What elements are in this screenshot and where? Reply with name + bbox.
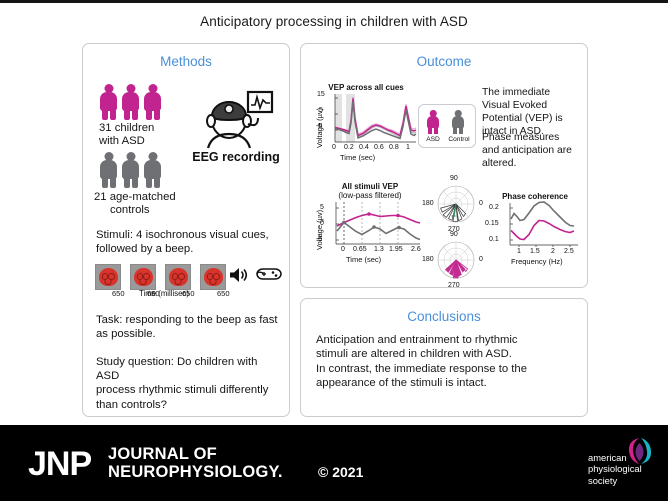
polar-control-label-90: 90 bbox=[450, 175, 458, 182]
all-stimuli-x-tick: 0.65 bbox=[353, 246, 367, 253]
conclusions-line-3: In contrast, the immediate response to t… bbox=[316, 362, 574, 376]
society-line-3: society bbox=[588, 475, 642, 486]
conclusions-line-2: stimuli are altered in children with ASD… bbox=[316, 347, 574, 361]
stimuli-line-2: followed by a beep. bbox=[96, 242, 278, 256]
stimuli-description: Stimuli: 4 isochronous visual cues, foll… bbox=[96, 228, 278, 256]
top-border bbox=[0, 0, 668, 3]
eeg-recording-label: EEG recording bbox=[186, 150, 286, 164]
vep-y-tick: -5 bbox=[316, 123, 322, 130]
person-figure-icon bbox=[100, 84, 117, 120]
question-line-1: Study question: Do children with ASD bbox=[96, 355, 278, 383]
legend-control-label: Control bbox=[446, 136, 472, 143]
control-count-label-2: controls bbox=[110, 203, 150, 217]
person-figure-icon bbox=[100, 152, 117, 188]
eeg-headset-icon bbox=[196, 88, 274, 150]
polar-asd-label-270: 270 bbox=[448, 282, 460, 289]
vep-x-axis-label: Time (sec) bbox=[340, 153, 375, 162]
coherence-y-tick: 0.2 bbox=[489, 204, 499, 211]
person-figure-icon bbox=[144, 152, 161, 188]
coherence-x-tick: 1.5 bbox=[530, 248, 540, 255]
phase-polar-control-chart bbox=[434, 182, 478, 226]
vep-y-tick: 5 bbox=[319, 107, 323, 114]
timeline-axis-label: Time (millisec) bbox=[104, 289, 224, 298]
all-stimuli-x-axis-label: Time (sec) bbox=[346, 255, 381, 264]
task-line-1: Task: responding to the beep as fast bbox=[96, 313, 278, 327]
vep-x-tick: 0.2 bbox=[344, 144, 354, 151]
vep-x-tick: 0.4 bbox=[359, 144, 369, 151]
polar-control-label-180: 180 bbox=[422, 200, 434, 207]
coherence-y-tick: 0.1 bbox=[489, 236, 499, 243]
all-stimuli-chart-subtitle: (low-pass filtered) bbox=[316, 191, 424, 200]
red-face-stimulus-icon bbox=[200, 264, 226, 290]
speaker-icon bbox=[228, 265, 248, 285]
all-stimuli-x-tick: 0 bbox=[341, 246, 345, 253]
all-stimuli-x-tick: 1.95 bbox=[389, 246, 403, 253]
journal-name-line-2: NEUROPHYSIOLOGY. bbox=[108, 464, 283, 482]
legend-control-icon bbox=[452, 110, 464, 134]
group-legend: ASD Control bbox=[418, 104, 476, 148]
coherence-x-tick: 2.5 bbox=[564, 248, 574, 255]
task-description: Task: responding to the beep as fast as … bbox=[96, 313, 278, 341]
all-stimuli-vep-chart bbox=[322, 200, 422, 256]
coherence-x-axis-label: Frequency (Hz) bbox=[511, 257, 563, 266]
vep-x-tick: 1 bbox=[406, 144, 410, 151]
coherence-x-tick: 1 bbox=[517, 248, 521, 255]
question-line-3: than controls? bbox=[96, 398, 278, 412]
control-count-label: 21 age-matched bbox=[94, 190, 176, 204]
phase-coherence-title: Phase coherence bbox=[490, 192, 580, 201]
polar-asd-label-0: 0 bbox=[479, 256, 483, 263]
outcome-heading: Outcome bbox=[301, 54, 587, 69]
conclusions-text: Anticipation and entrainment to rhythmic… bbox=[316, 333, 574, 391]
vep-x-tick: 0 bbox=[332, 144, 336, 151]
red-face-stimulus-icon bbox=[165, 264, 191, 290]
all-stimuli-x-tick: 2.6 bbox=[411, 246, 421, 253]
vep-x-tick: 0.8 bbox=[389, 144, 399, 151]
conclusions-line-4: appearance of the stimuli is intact. bbox=[316, 376, 574, 390]
page-title: Anticipatory processing in children with… bbox=[0, 14, 668, 29]
all-stimuli-y-tick: -5 bbox=[316, 236, 322, 243]
copyright-text: © 2021 bbox=[318, 464, 363, 480]
polar-control-label-0: 0 bbox=[479, 200, 483, 207]
red-face-stimulus-icon bbox=[95, 264, 121, 290]
person-figure-icon bbox=[122, 84, 139, 120]
stimuli-line-1: Stimuli: 4 isochronous visual cues, bbox=[96, 228, 278, 242]
vep-chart-title: VEP across all cues bbox=[318, 83, 414, 92]
legend-asd-icon bbox=[427, 110, 439, 134]
legend-asd-label: ASD bbox=[420, 136, 446, 143]
outcome-note-2: Phase measures and anticipation are alte… bbox=[482, 131, 578, 170]
vep-x-tick: 0.6 bbox=[374, 144, 384, 151]
person-figure-icon bbox=[144, 84, 161, 120]
all-stimuli-y-tick: 0 bbox=[320, 220, 324, 227]
methods-heading: Methods bbox=[83, 54, 289, 69]
conclusions-heading: Conclusions bbox=[301, 309, 587, 324]
all-stimuli-chart-title: All stimuli VEP bbox=[320, 182, 420, 191]
aps-swirl-logo-icon bbox=[626, 436, 654, 466]
vep-across-cues-chart bbox=[322, 92, 418, 154]
task-line-2: as possible. bbox=[96, 327, 278, 341]
vep-y-tick: 15 bbox=[317, 91, 325, 98]
phase-polar-asd-chart bbox=[434, 238, 478, 282]
study-question: Study question: Do children with ASD pro… bbox=[96, 355, 278, 412]
polar-asd-label-90: 90 bbox=[450, 231, 458, 238]
journal-name: JOURNAL OF NEUROPHYSIOLOGY. bbox=[108, 446, 283, 481]
gamepad-icon bbox=[256, 266, 282, 282]
coherence-x-tick: 2 bbox=[551, 248, 555, 255]
question-line-2: process rhythmic stimuli differently bbox=[96, 383, 278, 397]
conclusions-line-1: Anticipation and entrainment to rhythmic bbox=[316, 333, 574, 347]
all-stimuli-y-tick: 5 bbox=[320, 204, 324, 211]
jnp-logo-mark: JNP bbox=[28, 447, 91, 481]
control-figure-group bbox=[100, 152, 161, 188]
asd-figure-group bbox=[100, 84, 161, 120]
polar-asd-label-180: 180 bbox=[422, 256, 434, 263]
journal-footer bbox=[0, 425, 668, 501]
asd-count-label: 31 children bbox=[99, 121, 154, 135]
asd-count-label-2: with ASD bbox=[99, 134, 145, 148]
person-figure-icon bbox=[122, 152, 139, 188]
journal-name-line-1: JOURNAL OF bbox=[108, 446, 283, 464]
coherence-y-tick: 0.15 bbox=[485, 220, 499, 227]
all-stimuli-x-tick: 1.3 bbox=[374, 246, 384, 253]
red-face-stimulus-icon bbox=[130, 264, 156, 290]
